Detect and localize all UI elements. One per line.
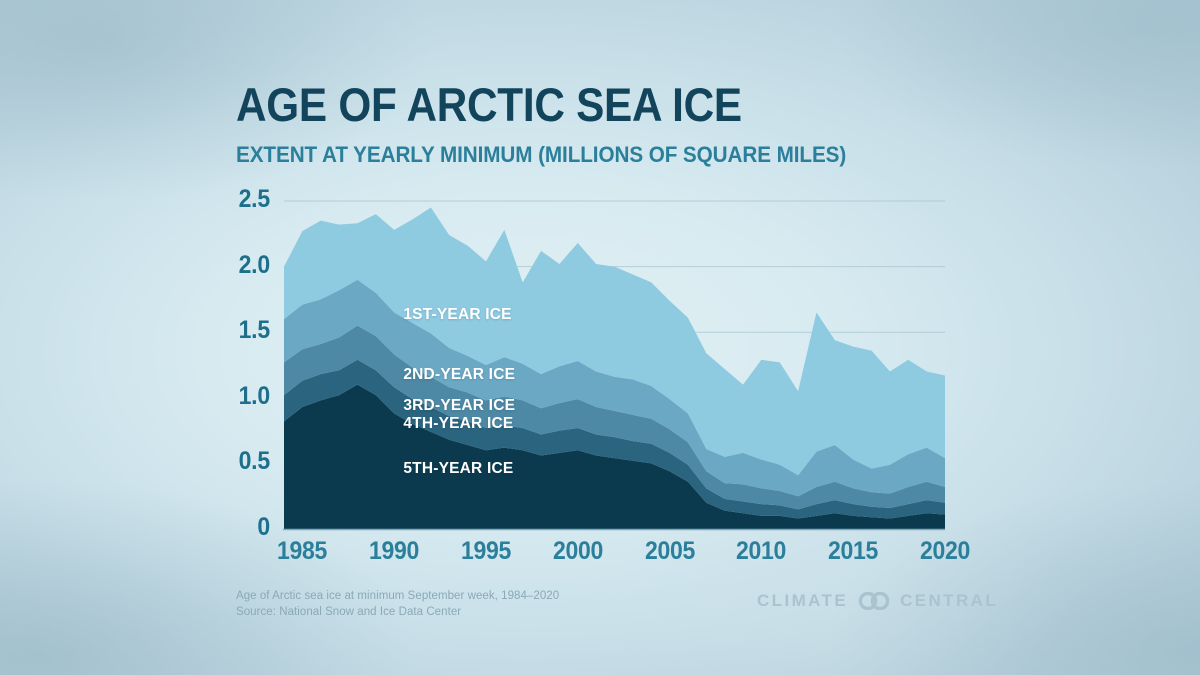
series-label-1st-year-ice: 1ST-YEAR ICE: [403, 306, 511, 324]
x-axis-tick-label: 2000: [541, 537, 615, 566]
y-axis-tick-label: 1.0: [222, 382, 270, 411]
x-axis-tick-label: 1985: [266, 537, 340, 566]
caption-line-1: Age of Arctic sea ice at minimum Septemb…: [236, 588, 559, 604]
x-axis-tick-label: 1990: [357, 537, 431, 566]
y-axis-tick-label: 0: [222, 513, 270, 542]
interlocking-circles-icon: [857, 592, 891, 610]
y-axis-tick-label: 2.5: [222, 185, 270, 214]
x-axis-tick-label: 2020: [908, 537, 982, 566]
infographic-canvas: AGE OF ARCTIC SEA ICE EXTENT AT YEARLY M…: [0, 0, 1200, 675]
y-axis-tick-label: 2.0: [222, 251, 270, 280]
stacked-area-chart: 00.51.01.52.02.5198519901995200020052010…: [0, 0, 1200, 675]
y-axis-tick-label: 0.5: [222, 447, 270, 476]
x-axis-tick-label: 2005: [633, 537, 707, 566]
series-label-2nd-year-ice: 2ND-YEAR ICE: [403, 366, 515, 384]
y-axis-tick-label: 1.5: [222, 316, 270, 345]
logo-text-left: CLIMATE: [757, 591, 848, 611]
x-axis-tick-label: 2010: [725, 537, 799, 566]
caption-line-2: Source: National Snow and Ice Data Cente…: [236, 604, 559, 620]
chart-plot-area: [0, 0, 1200, 675]
logo-text-right: CENTRAL: [900, 591, 998, 611]
climate-central-logo: CLIMATE CENTRAL: [757, 591, 998, 611]
series-label-3rd-year-ice: 3RD-YEAR ICE: [403, 397, 515, 415]
series-label-5th-year-ice: 5TH-YEAR ICE: [403, 460, 513, 478]
chart-caption: Age of Arctic sea ice at minimum Septemb…: [236, 588, 559, 620]
series-label-4th-year-ice: 4TH-YEAR ICE: [403, 415, 513, 433]
x-axis-tick-label: 2015: [816, 537, 890, 566]
x-axis-tick-label: 1995: [449, 537, 523, 566]
